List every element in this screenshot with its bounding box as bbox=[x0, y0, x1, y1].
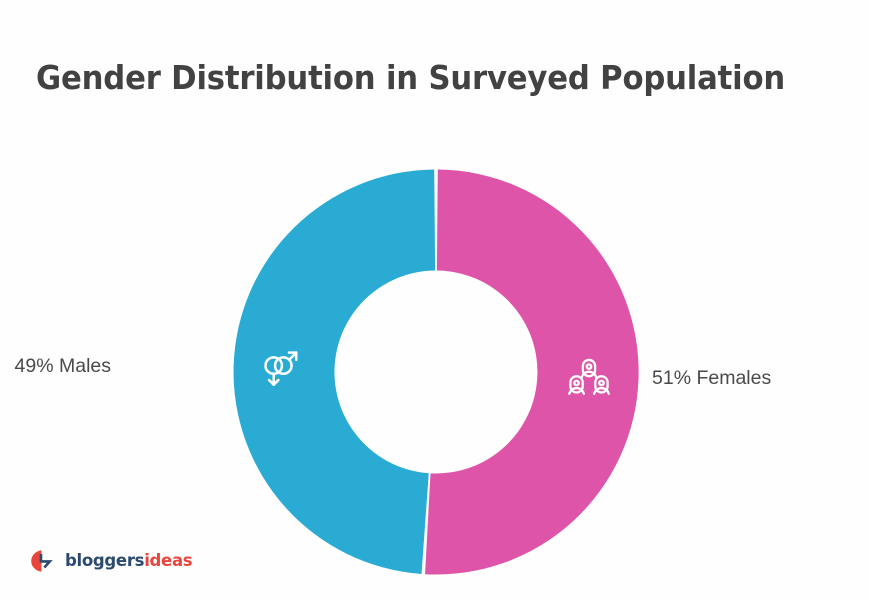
women-group-glyph bbox=[566, 354, 612, 400]
male-female-symbol-icon bbox=[256, 344, 302, 390]
bloggersideas-logo[interactable]: bloggersideas bbox=[30, 547, 192, 575]
logo-word-bloggers: bloggers bbox=[65, 551, 144, 570]
male-female-symbol-glyph bbox=[256, 344, 302, 390]
logo-wordmark: bloggersideas bbox=[65, 553, 192, 570]
women-group-icon bbox=[566, 354, 612, 400]
logo-word-ideas: ideas bbox=[144, 551, 192, 570]
logo-mark-glyph bbox=[30, 549, 57, 573]
chart-title: Gender Distribution in Surveyed Populati… bbox=[36, 58, 780, 97]
label-males: 49% Males bbox=[15, 355, 111, 378]
label-females: 51% Females bbox=[652, 367, 771, 390]
chart-canvas: Gender Distribution in Surveyed Populati… bbox=[0, 0, 870, 600]
bloggersideas-logo-mark-icon bbox=[30, 549, 57, 573]
